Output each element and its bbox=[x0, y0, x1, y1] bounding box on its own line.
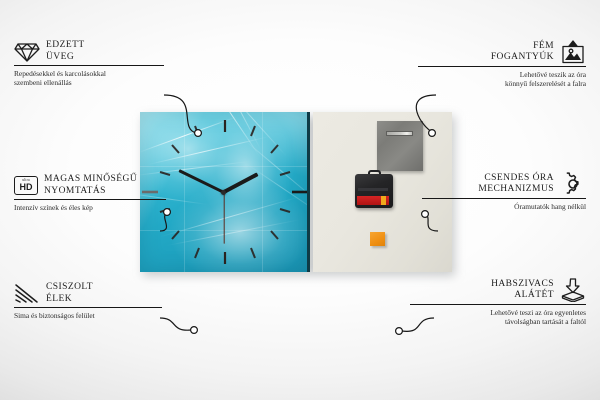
callout-description-line1: Intenzív színek és éles kép bbox=[14, 203, 166, 213]
foam-spacer-pad bbox=[370, 232, 385, 246]
callout-polished-edges: CSISZOLT ÉLEK Sima és biztonságos felüle… bbox=[14, 282, 162, 320]
callout-description-line2: könnyű felszerelését a falra bbox=[418, 79, 586, 89]
callout-divider bbox=[422, 198, 586, 199]
callout-header: EDZETT ÜVEG bbox=[14, 40, 164, 63]
callout-divider bbox=[418, 66, 586, 67]
gear-icon bbox=[560, 172, 586, 196]
mechanism-label bbox=[357, 196, 389, 205]
callout-description-line1: Lehetővé teszi az óra egyenletes bbox=[410, 308, 586, 318]
press-down-pad-icon bbox=[560, 278, 586, 302]
callout-header: HABSZIVACS ALÁTÉT bbox=[410, 278, 586, 302]
callout-silent-mechanism: CSENDES ÓRA MECHANIZMUS Óramutatók hang … bbox=[422, 172, 586, 211]
mechanism-body bbox=[355, 174, 393, 208]
clock-second-hand bbox=[223, 192, 224, 244]
polished-edge-icon bbox=[14, 283, 40, 305]
callout-high-quality-print: ultra HD MAGAS MINŐSÉGŰ NYOMTATÁS Intenz… bbox=[14, 174, 166, 212]
callout-description-line2: távolságban tartását a faltól bbox=[410, 317, 586, 327]
callout-header: CSENDES ÓRA MECHANIZMUS bbox=[422, 172, 586, 196]
callout-header: CSISZOLT ÉLEK bbox=[14, 282, 162, 305]
callout-description-line1: Lehetővé teszik az óra bbox=[418, 70, 586, 80]
callout-description-line1: Repedésekkel és karcolásokkal bbox=[14, 69, 164, 79]
callout-title: EDZETT ÜVEG bbox=[46, 40, 85, 63]
callout-header: ultra HD MAGAS MINŐSÉGŰ NYOMTATÁS bbox=[14, 174, 166, 197]
ultra-hd-icon-bottom: HD bbox=[20, 183, 33, 192]
callout-title: CSENDES ÓRA MECHANIZMUS bbox=[422, 173, 554, 196]
callout-metal-hooks: FÉM FOGANTYÚK Lehetővé teszik az óra kön… bbox=[418, 40, 586, 89]
callout-title: HABSZIVACS ALÁTÉT bbox=[410, 279, 554, 302]
callout-divider bbox=[14, 307, 162, 308]
mechanism-label-mark bbox=[381, 196, 386, 205]
callout-divider bbox=[14, 199, 166, 200]
hanging-picture-icon bbox=[560, 40, 586, 64]
callout-description-line1: Sima és biztonságos felület bbox=[14, 311, 162, 321]
callout-tempered-glass: EDZETT ÜVEG Repedésekkel és karcolásokka… bbox=[14, 40, 164, 88]
callout-foam-pad: HABSZIVACS ALÁTÉT Lehetővé teszi az óra … bbox=[410, 278, 586, 327]
callout-header: FÉM FOGANTYÚK bbox=[418, 40, 586, 64]
mechanism-seam bbox=[358, 188, 388, 191]
callout-title: MAGAS MINŐSÉGŰ NYOMTATÁS bbox=[44, 174, 137, 197]
clock-hand-pivot bbox=[221, 190, 226, 195]
ultra-hd-icon: ultra HD bbox=[14, 176, 38, 195]
product-image bbox=[140, 112, 452, 272]
quartz-clock-mechanism bbox=[355, 170, 393, 208]
callout-title: FÉM FOGANTYÚK bbox=[418, 41, 554, 64]
hanger-slot bbox=[386, 131, 413, 136]
metal-hanger-plate bbox=[377, 121, 423, 171]
callout-divider bbox=[14, 65, 164, 66]
callout-description-line2: szembeni ellenállás bbox=[14, 78, 164, 88]
callout-divider bbox=[410, 304, 586, 305]
diamond-icon bbox=[14, 41, 40, 63]
callout-description-line1: Óramutatók hang nélkül bbox=[422, 202, 586, 212]
callout-title: CSISZOLT ÉLEK bbox=[46, 282, 93, 305]
